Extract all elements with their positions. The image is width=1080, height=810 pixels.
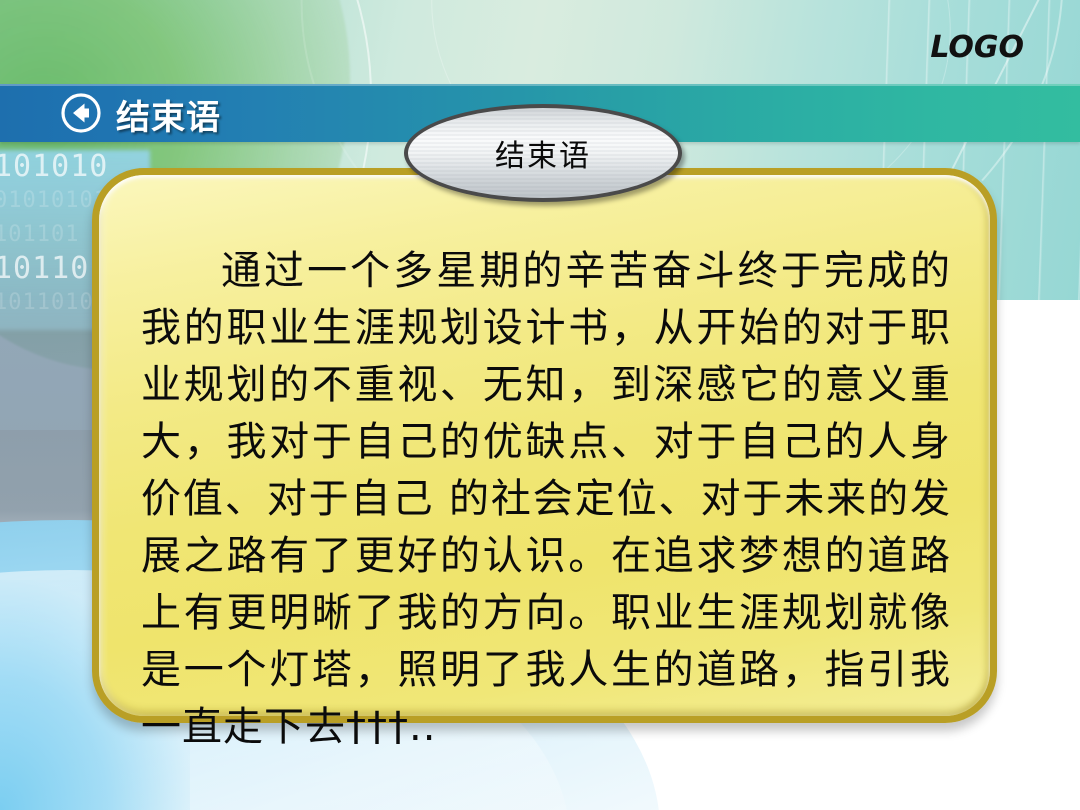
logo: LOGO [930,30,1024,65]
conclusion-body-text: 通过一个多星期的辛苦奋斗终于完成的我的职业生涯规划设计书，从开始的对于职业规划的… [141,243,951,756]
content-panel: 通过一个多星期的辛苦奋斗终于完成的我的职业生涯规划设计书，从开始的对于职业规划的… [92,168,997,723]
back-arrow-circle-icon[interactable] [60,92,102,134]
section-title: 结束语 [116,92,221,136]
oval-badge: 结束语 [404,104,682,202]
header-bar-highlight [0,84,1080,86]
oval-badge-label: 结束语 [495,131,591,175]
oval-badge-face: 结束语 [408,108,678,198]
presentation-slide: 101010 01010101010 101101 10110 10110101… [0,0,1080,810]
